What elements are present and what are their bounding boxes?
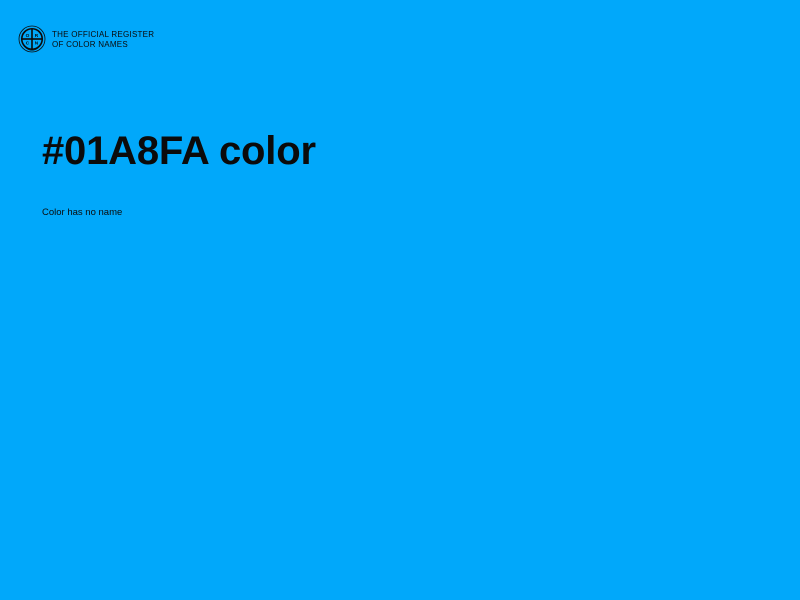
color-page: O R C N THE OFFICIAL REGISTER OF COLOR N… [0,0,800,600]
brand-line-1: THE OFFICIAL REGISTER [52,30,154,40]
page-title: #01A8FA color [42,128,742,174]
svg-text:C: C [26,41,30,47]
brand-wordmark: THE OFFICIAL REGISTER OF COLOR NAMES [52,30,154,49]
brand-line-2: OF COLOR NAMES [52,40,154,50]
color-info: #01A8FA color Color has no name [42,128,742,219]
svg-text:R: R [35,33,39,39]
svg-text:O: O [26,33,30,39]
svg-text:N: N [35,41,39,47]
site-brand[interactable]: O R C N THE OFFICIAL REGISTER OF COLOR N… [18,25,154,53]
color-name-status: Color has no name [42,174,742,219]
orcn-seal-icon: O R C N [18,25,46,53]
